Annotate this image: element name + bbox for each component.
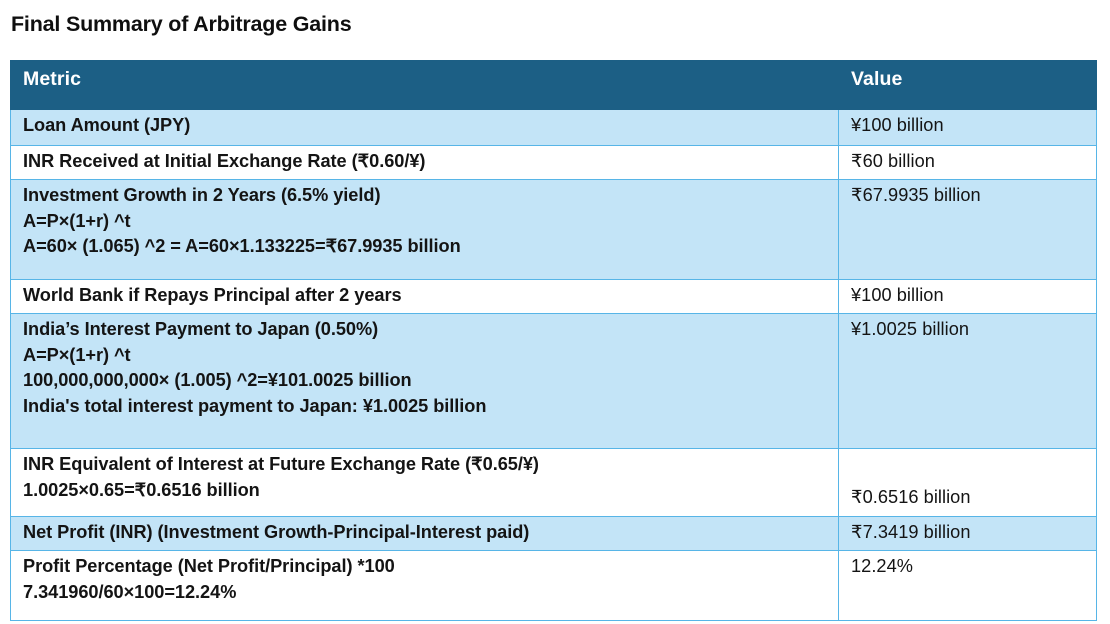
table-body: Loan Amount (JPY) ¥100 billion INR Recei… <box>11 110 1097 621</box>
metric-line: Net Profit (INR) (Investment Growth-Prin… <box>23 520 828 545</box>
column-header-metric: Metric <box>11 61 839 110</box>
value-cell: 12.24% <box>839 551 1097 621</box>
metric-line: 100,000,000,000× (1.005) ^2=¥101.0025 bi… <box>23 368 828 393</box>
table-row: Profit Percentage (Net Profit/Principal)… <box>11 551 1097 621</box>
metric-line: 7.341960/60×100=12.24% <box>23 580 828 605</box>
value-cell: ₹60 billion <box>839 146 1097 180</box>
arbitrage-summary-table: Metric Value Loan Amount (JPY) ¥100 bill… <box>10 60 1097 621</box>
column-header-value: Value <box>839 61 1097 110</box>
table-row: Net Profit (INR) (Investment Growth-Prin… <box>11 517 1097 551</box>
metric-line: 1.0025×0.65=₹0.6516 billion <box>23 478 828 503</box>
table-row: Loan Amount (JPY) ¥100 billion <box>11 110 1097 146</box>
metric-cell: Investment Growth in 2 Years (6.5% yield… <box>11 180 839 280</box>
value-cell: ₹7.3419 billion <box>839 517 1097 551</box>
table-header: Metric Value <box>11 61 1097 110</box>
metric-cell: INR Received at Initial Exchange Rate (₹… <box>11 146 839 180</box>
metric-line: INR Received at Initial Exchange Rate (₹… <box>23 149 828 174</box>
document-page: Final Summary of Arbitrage Gains Metric … <box>0 0 1110 624</box>
metric-cell: World Bank if Repays Principal after 2 y… <box>11 280 839 314</box>
value-line: ₹7.3419 billion <box>851 520 1086 545</box>
value-cell: ₹0.6516 billion <box>839 449 1097 517</box>
metric-line: India's total interest payment to Japan:… <box>23 394 828 419</box>
metric-line: World Bank if Repays Principal after 2 y… <box>23 283 828 308</box>
table-row: World Bank if Repays Principal after 2 y… <box>11 280 1097 314</box>
metric-cell: Profit Percentage (Net Profit/Principal)… <box>11 551 839 621</box>
metric-cell: INR Equivalent of Interest at Future Exc… <box>11 449 839 517</box>
table-row: INR Equivalent of Interest at Future Exc… <box>11 449 1097 517</box>
metric-cell: Net Profit (INR) (Investment Growth-Prin… <box>11 517 839 551</box>
value-line: ₹0.6516 billion <box>851 485 1086 510</box>
metric-cell: Loan Amount (JPY) <box>11 110 839 146</box>
value-line: 12.24% <box>851 554 1086 579</box>
table-row: INR Received at Initial Exchange Rate (₹… <box>11 146 1097 180</box>
table-row: India’s Interest Payment to Japan (0.50%… <box>11 314 1097 449</box>
metric-cell: India’s Interest Payment to Japan (0.50%… <box>11 314 839 449</box>
value-line: ¥100 billion <box>851 113 1086 138</box>
value-line: ¥100 billion <box>851 283 1086 308</box>
metric-line: Investment Growth in 2 Years (6.5% yield… <box>23 183 828 208</box>
page-title: Final Summary of Arbitrage Gains <box>11 12 351 37</box>
metric-line: A=P×(1+r) ^t <box>23 209 828 234</box>
table-header-row: Metric Value <box>11 61 1097 110</box>
metric-line: A=60× (1.065) ^2 = A=60×1.133225=₹67.993… <box>23 234 828 259</box>
metric-line: Loan Amount (JPY) <box>23 113 828 138</box>
value-line: ₹67.9935 billion <box>851 183 1086 208</box>
value-cell: ¥100 billion <box>839 280 1097 314</box>
metric-line: Profit Percentage (Net Profit/Principal)… <box>23 554 828 579</box>
value-line: ¥1.0025 billion <box>851 317 1086 342</box>
value-line: ₹60 billion <box>851 149 1086 174</box>
table-row: Investment Growth in 2 Years (6.5% yield… <box>11 180 1097 280</box>
metric-line: INR Equivalent of Interest at Future Exc… <box>23 452 828 477</box>
metric-line: A=P×(1+r) ^t <box>23 343 828 368</box>
value-cell: ₹67.9935 billion <box>839 180 1097 280</box>
metric-line: India’s Interest Payment to Japan (0.50%… <box>23 317 828 342</box>
value-cell: ¥1.0025 billion <box>839 314 1097 449</box>
value-cell: ¥100 billion <box>839 110 1097 146</box>
